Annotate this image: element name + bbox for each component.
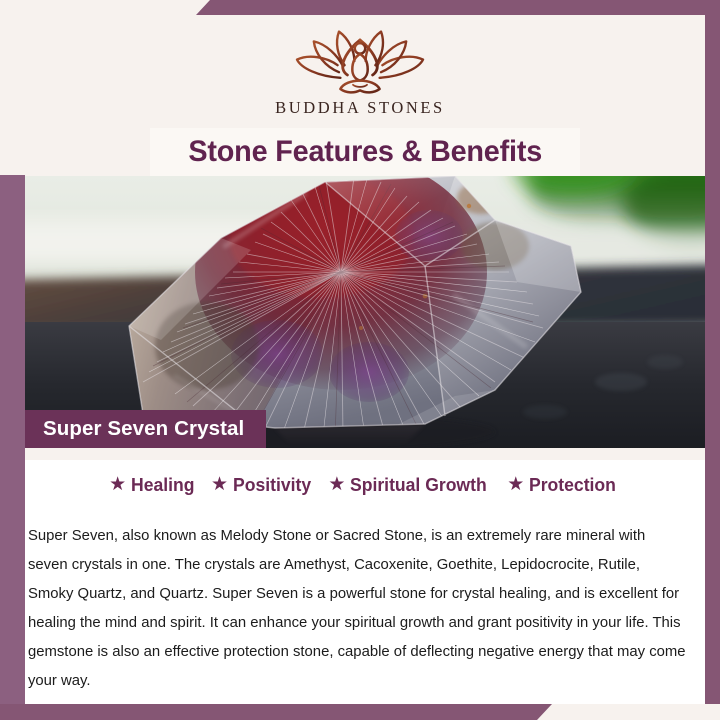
- frame-top-band: [196, 0, 720, 15]
- benefit-label: Spiritual Growth: [350, 474, 487, 496]
- page-title: Stone Features & Benefits: [188, 135, 542, 169]
- content-section: ★ Healing ★ Positivity ★ Spiritual Growt…: [25, 448, 705, 704]
- crystal-photo-art: [25, 176, 705, 448]
- benefit-item-positivity: ★ Positivity: [211, 474, 315, 496]
- brand-name: BUDDHA STONES: [0, 98, 720, 118]
- star-icon: ★: [328, 475, 345, 494]
- hero-image: Super Seven Crystal: [25, 176, 705, 448]
- header-section: BUDDHA STONES Stone Features & Benefits: [0, 0, 720, 178]
- hero-caption-label: Super Seven Crystal: [43, 417, 244, 441]
- frame-bottom-band: [0, 704, 552, 720]
- benefit-label: Healing: [131, 474, 194, 496]
- benefit-label: Protection: [529, 474, 616, 496]
- benefits-row: ★ Healing ★ Positivity ★ Spiritual Growt…: [25, 474, 705, 496]
- benefit-label: Positivity: [233, 474, 311, 496]
- stone-description: Super Seven, also known as Melody Stone …: [25, 521, 695, 695]
- star-icon: ★: [109, 475, 126, 494]
- benefit-item-spiritual-growth: ★ Spiritual Growth: [328, 474, 494, 496]
- infographic-card: BUDDHA STONES Stone Features & Benefits: [0, 0, 720, 720]
- benefit-item-healing: ★ Healing: [109, 474, 198, 496]
- star-icon: ★: [507, 475, 524, 494]
- brand-block: BUDDHA STONES: [0, 26, 720, 118]
- lotus-meditation-icon: [290, 26, 430, 96]
- star-icon: ★: [211, 475, 228, 494]
- page-title-plate: Stone Features & Benefits: [150, 128, 580, 176]
- frame-right-band: [705, 0, 720, 704]
- benefit-item-protection: ★ Protection: [507, 474, 621, 496]
- frame-left-band: [0, 175, 25, 720]
- panel-top-tint: [25, 448, 705, 460]
- hero-caption-badge: Super Seven Crystal: [25, 410, 266, 448]
